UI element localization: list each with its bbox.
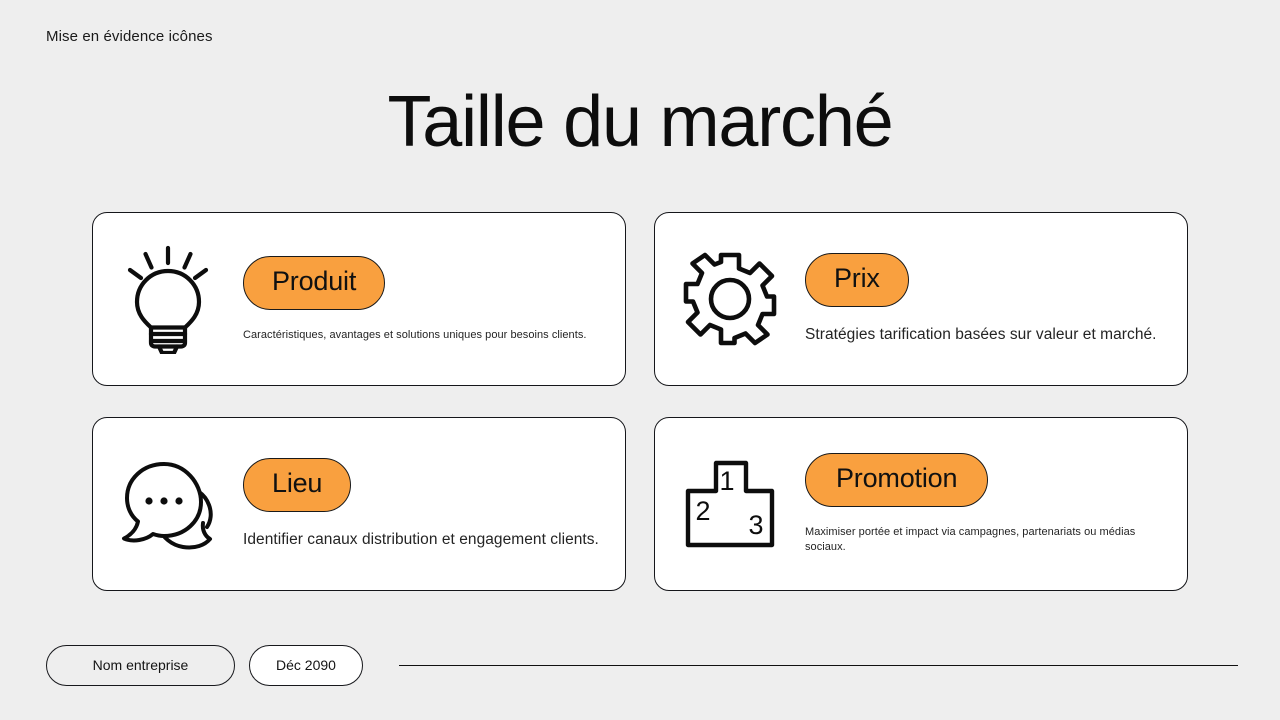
date-chip[interactable]: Déc 2090 bbox=[249, 645, 363, 686]
podium-icon: 1 2 3 bbox=[655, 460, 805, 548]
footer-divider bbox=[399, 665, 1238, 666]
podium-place-2: 2 bbox=[695, 496, 710, 526]
card-lieu-body: Lieu Identifier canaux distribution et e… bbox=[243, 458, 625, 550]
card-grid: Produit Caractéristiques, avantages et s… bbox=[92, 212, 1188, 591]
podium-place-3: 3 bbox=[748, 510, 763, 540]
card-lieu[interactable]: Lieu Identifier canaux distribution et e… bbox=[92, 417, 626, 591]
card-lieu-label[interactable]: Lieu bbox=[243, 458, 351, 512]
slide-eyebrow: Mise en évidence icônes bbox=[46, 26, 213, 48]
podium-place-1: 1 bbox=[719, 466, 734, 496]
card-promotion-label[interactable]: Promotion bbox=[805, 453, 988, 507]
card-lieu-description: Identifier canaux distribution et engage… bbox=[243, 530, 599, 550]
card-prix-description: Stratégies tarification basées sur valeu… bbox=[805, 325, 1157, 345]
gear-icon bbox=[655, 252, 805, 346]
card-promotion-body: Promotion Maximiser portée et impact via… bbox=[805, 453, 1187, 555]
company-chip[interactable]: Nom entreprise bbox=[46, 645, 235, 686]
card-prix[interactable]: Prix Stratégies tarification basées sur … bbox=[654, 212, 1188, 386]
card-promotion-description: Maximiser portée et impact via campagnes… bbox=[805, 525, 1169, 555]
card-prix-label[interactable]: Prix bbox=[805, 253, 909, 307]
slide-footer: Nom entreprise Déc 2090 bbox=[46, 645, 1238, 686]
page-title: Taille du marché bbox=[0, 80, 1280, 164]
card-prix-body: Prix Stratégies tarification basées sur … bbox=[805, 253, 1187, 345]
card-produit-label[interactable]: Produit bbox=[243, 256, 385, 310]
slide-canvas: Mise en évidence icônes Taille du marché bbox=[0, 0, 1280, 720]
card-produit-description: Caractéristiques, avantages et solutions… bbox=[243, 328, 586, 343]
speech-bubbles-icon bbox=[93, 457, 243, 551]
lightbulb-icon bbox=[93, 244, 243, 354]
card-produit[interactable]: Produit Caractéristiques, avantages et s… bbox=[92, 212, 626, 386]
card-promotion[interactable]: 1 2 3 Promotion Maximiser portée et impa… bbox=[654, 417, 1188, 591]
card-produit-body: Produit Caractéristiques, avantages et s… bbox=[243, 256, 625, 343]
